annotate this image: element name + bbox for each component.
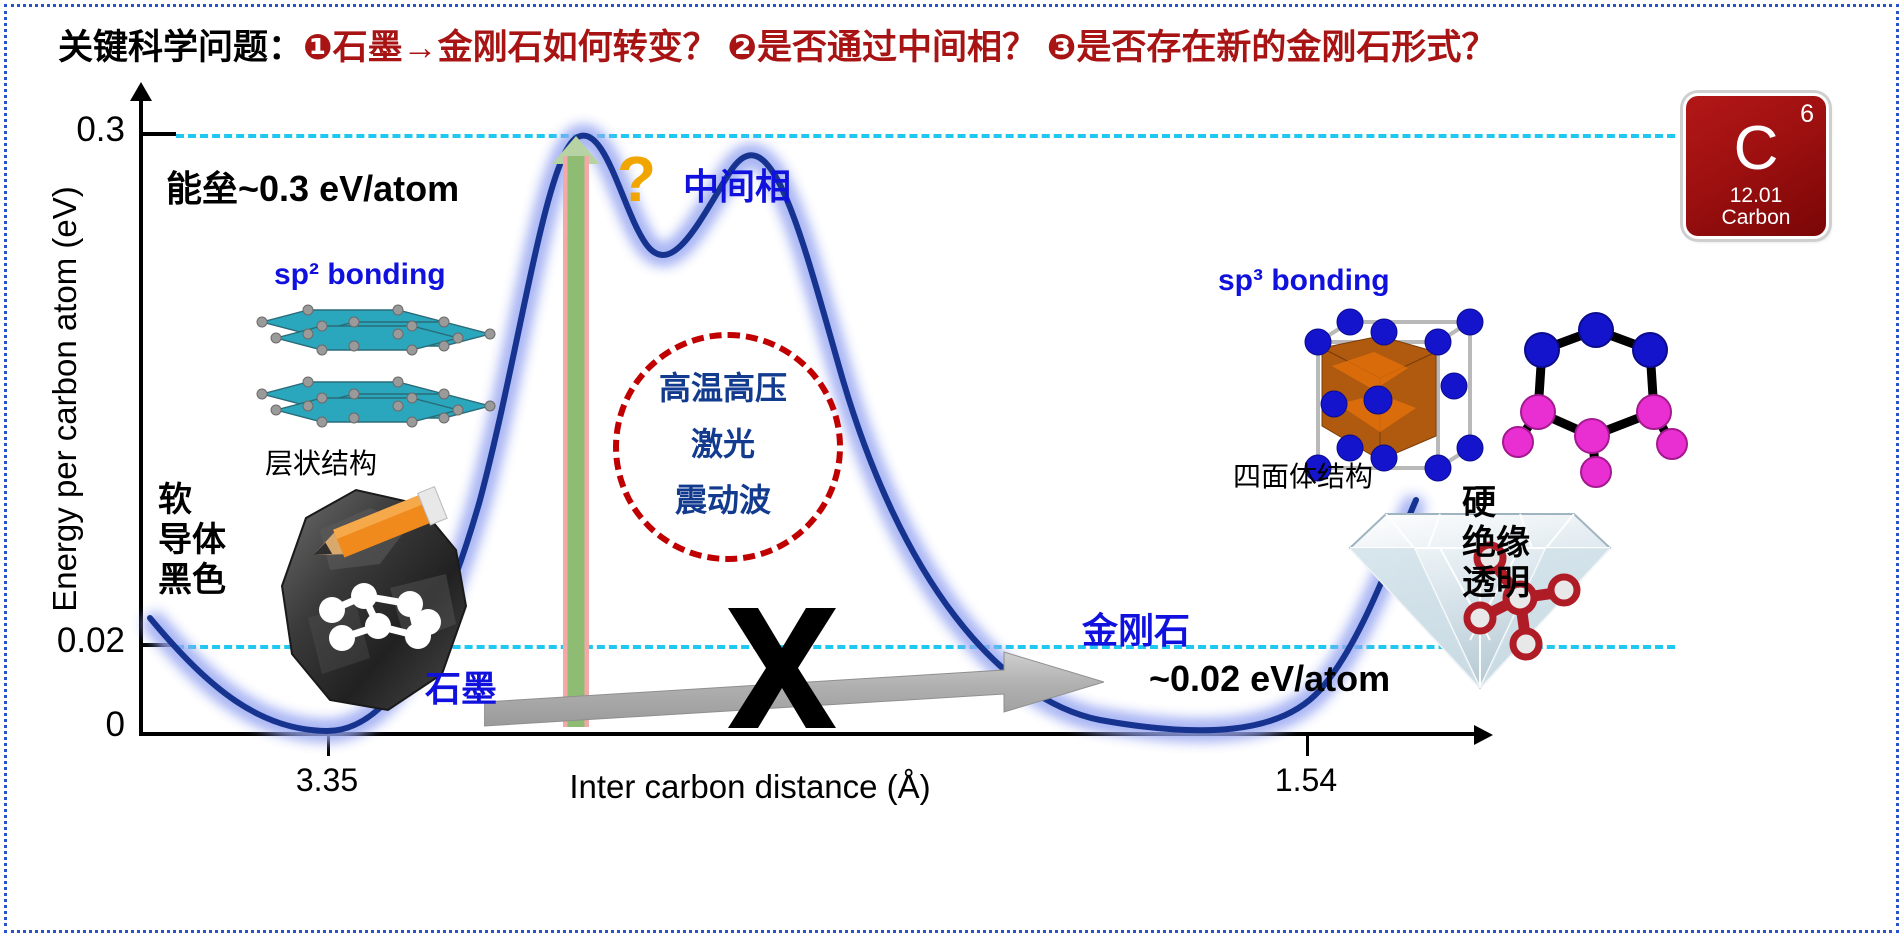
sp2-bonding-label: sp² bonding (274, 258, 446, 292)
graphite-name-label: 石墨 (425, 660, 497, 712)
carbon-element-tile: 6 C 12.01 Carbon (1686, 96, 1826, 236)
diamond-prop-0: 硬 (1462, 483, 1530, 523)
diamond-name-label: 金刚石 (1082, 602, 1190, 654)
graphite-prop-2: 黑色 (158, 560, 226, 600)
diamond-prop-2: 透明 (1462, 563, 1530, 603)
graphite-prop-0: 软 (158, 480, 226, 520)
graphite-prop-1: 导体 (158, 520, 226, 560)
diamond-energy-label: ~0.02 eV/atom (1149, 658, 1390, 700)
condition-item-0: 高温高压 (600, 360, 846, 416)
condition-item-2: 震动波 (600, 472, 846, 528)
title-prefix: 关键科学问题： (58, 19, 303, 70)
pencil-image (300, 476, 448, 572)
diamond-lattice-image (1500, 308, 1690, 498)
barrier-energy-label: 能垒~0.3 eV/atom (166, 160, 459, 212)
question-mark-icon: ? (617, 142, 656, 216)
title-questions: ❶石墨→金刚石如何转变？ ❷是否通过中间相？ ❸是否存在新的金刚石形式？ (303, 19, 1496, 70)
intermediate-phase-label: 中间相 (683, 158, 791, 210)
condition-item-1: 激光 (600, 416, 846, 472)
sp3-bonding-label: sp³ bonding (1218, 264, 1390, 298)
diamond-prop-1: 绝缘 (1462, 523, 1530, 563)
element-name: Carbon (1686, 206, 1826, 230)
element-atomic-mass: 12.01 (1686, 184, 1826, 208)
vertical-transformation-arrow (563, 156, 589, 727)
diamond-properties-label: 硬 绝缘 透明 (1462, 483, 1530, 603)
energy-landscape-plot: 0.3 0.02 0 3.35 1.54 Energy per carbon a… (0, 80, 1903, 937)
extreme-conditions-label: 高温高压 激光 震动波 (600, 360, 846, 528)
page-title: 关键科学问题： ❶石墨→金刚石如何转变？ ❷是否通过中间相？ ❸是否存在新的金刚… (58, 18, 1858, 70)
layered-structure-label: 层状结构 (265, 442, 377, 482)
graphite-properties-label: 软 导体 黑色 (158, 480, 226, 600)
graphene-layers-image (248, 292, 520, 462)
tetrahedral-structure-label: 四面体结构 (1233, 455, 1373, 495)
element-symbol: C (1686, 118, 1826, 180)
blocked-path-x-icon (718, 604, 846, 732)
diagram-canvas: 关键科学问题： ❶石墨→金刚石如何转变？ ❷是否通过中间相？ ❸是否存在新的金刚… (0, 0, 1903, 937)
